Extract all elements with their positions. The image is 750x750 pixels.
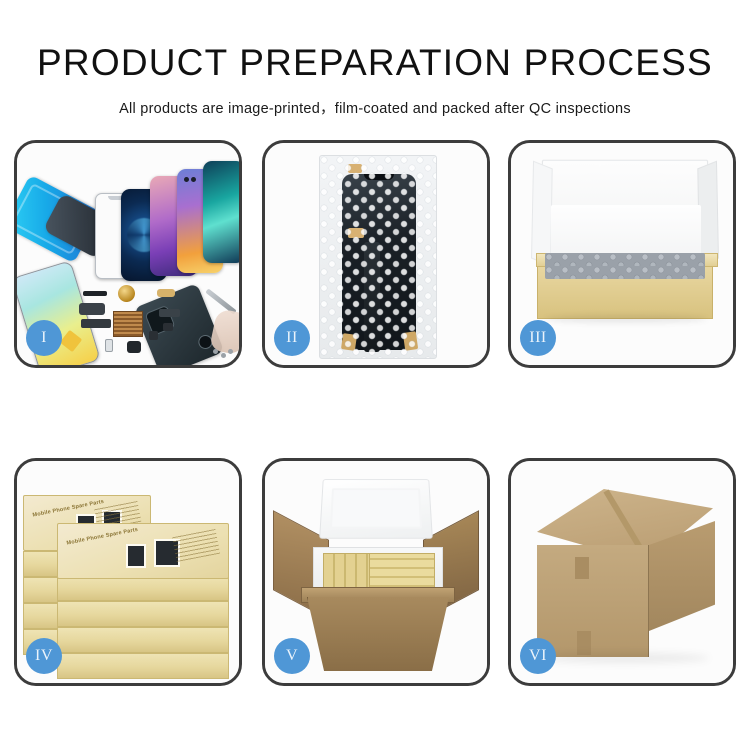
logic-board-part (113, 311, 143, 337)
carton-body (307, 597, 449, 671)
step-badge-5: V (274, 638, 310, 674)
drop-shadow (545, 315, 707, 323)
page-subtitle: All products are image-printed，film-coat… (0, 97, 750, 118)
speaker-coil-part (118, 285, 135, 302)
carton-front-face (537, 545, 649, 657)
bubble-texture (320, 156, 436, 358)
sim-tray-part (105, 339, 113, 352)
retail-box-front-top: Mobile Phone Spare Parts (57, 523, 229, 579)
bubble-wrap-bag (319, 155, 437, 359)
step-badge-6: VI (520, 638, 556, 674)
process-step-grid: I II (14, 140, 738, 688)
page-title: PRODUCT PREPARATION PROCESS (0, 44, 750, 81)
step-panel-3[interactable]: III (508, 140, 736, 368)
step-panel-6[interactable]: VI (508, 458, 736, 686)
step-panel-4[interactable]: Mobile Phone Spare Parts Mobile Phone Sp… (14, 458, 242, 686)
flex-cable-part-a (79, 303, 105, 315)
retail-box-spec-text-front (172, 528, 220, 562)
step-panel-5[interactable]: V (262, 458, 490, 686)
earpiece-mesh-part (83, 291, 107, 296)
poster-header: PRODUCT PREPARATION PROCESS All products… (0, 0, 750, 118)
step-badge-3: III (520, 320, 556, 356)
step-badge-4: IV (26, 638, 62, 674)
connector-strip-part (159, 309, 180, 317)
step-badge-2: II (274, 320, 310, 356)
copper-shield-part (157, 289, 175, 297)
carton-tab-upper (575, 557, 589, 579)
retail-box-front-3 (57, 601, 229, 627)
step-panel-1[interactable]: I (14, 140, 242, 368)
vibrator-part (163, 323, 173, 331)
step-panel-2[interactable]: II (262, 140, 490, 368)
small-bracket-part (149, 331, 158, 340)
grey-bubble-wrap-roll (545, 253, 705, 279)
carton-tab-lower (577, 631, 591, 655)
retail-box-front-4 (57, 627, 229, 653)
styrofoam-lid (319, 479, 433, 539)
poster-canvas: PRODUCT PREPARATION PROCESS All products… (0, 0, 750, 750)
carton-drop-shadow (541, 653, 709, 663)
retail-box-front-5 (57, 653, 229, 679)
camera-module-part (127, 341, 141, 353)
retail-box-window-c (126, 544, 146, 568)
flex-cable-part-b (81, 319, 111, 328)
phone-green-display (203, 161, 239, 263)
screws-group (213, 349, 233, 361)
step-badge-1: I (26, 320, 62, 356)
